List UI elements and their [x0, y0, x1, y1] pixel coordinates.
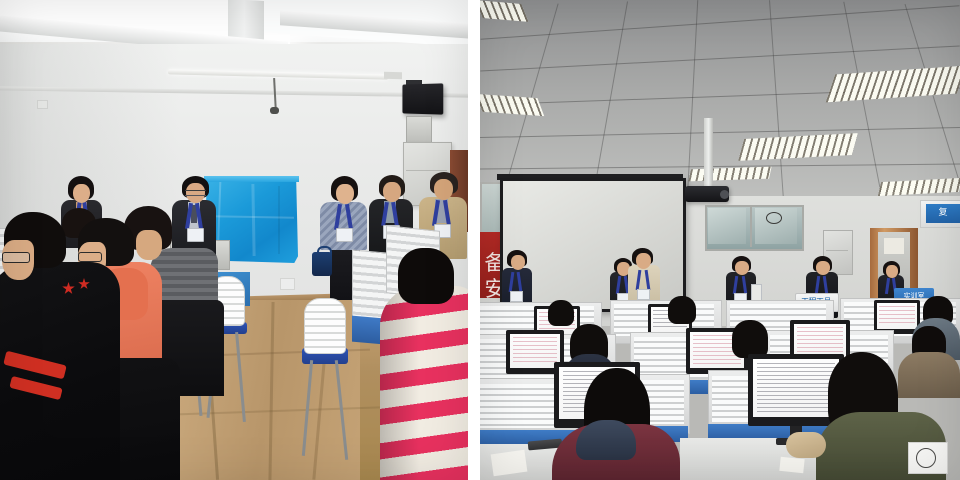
name-badge	[510, 291, 523, 302]
paper-sheet	[491, 450, 528, 477]
inspector-6-face	[886, 265, 898, 278]
student-hood	[576, 420, 636, 460]
electrical-panel-seam	[406, 170, 447, 171]
hanging-sign-label: 复	[928, 206, 958, 221]
glasses-icon	[185, 190, 206, 196]
monitor-content	[757, 363, 835, 413]
inspector-3-face	[636, 253, 651, 269]
name-badge	[187, 228, 204, 242]
paper-sheet	[779, 457, 804, 473]
monitor	[874, 300, 920, 334]
window-pane-left	[708, 208, 746, 244]
fluorescent-tube-end-cap	[384, 72, 402, 79]
monitor-content	[513, 337, 557, 364]
photo-pair-composite: 备 安 复	[0, 0, 960, 480]
wall-speaker	[402, 83, 443, 114]
window-mullion	[750, 205, 752, 247]
meeting-room-photo	[0, 0, 468, 480]
blue-cloth-top-edge	[204, 176, 299, 182]
student-body	[898, 352, 960, 398]
name-badge	[637, 289, 650, 300]
standing-person-4-face	[383, 182, 401, 202]
inspector-4-face	[735, 261, 749, 275]
student-hair	[732, 320, 768, 358]
projector-lens	[720, 190, 729, 199]
standing-person-1-face	[73, 184, 90, 203]
student-hair	[548, 300, 574, 326]
wall-socket-2	[280, 278, 295, 290]
standing-person-3-face	[336, 184, 354, 204]
inspector-5-face	[816, 261, 830, 275]
monitor-content	[797, 327, 843, 356]
standing-person-3	[320, 202, 367, 250]
inspector-1-face	[511, 255, 525, 270]
window-cable	[766, 212, 782, 224]
wall-speaker-secondary	[406, 116, 432, 144]
nameplate-emblem-icon	[916, 448, 936, 468]
seated-person-striped-hair	[398, 248, 454, 304]
seated-student-3-face	[136, 230, 162, 260]
cloth-fold	[278, 186, 280, 254]
handbag	[312, 252, 332, 276]
wire-connector	[270, 107, 279, 114]
door-poster	[884, 238, 904, 254]
computer-lab-photo: 备 安 复	[480, 0, 960, 480]
glasses-icon	[78, 252, 102, 262]
glasses-icon	[2, 252, 30, 263]
monitor-content	[879, 306, 915, 326]
wall-cabinet-seam	[826, 250, 848, 251]
photo-gutter	[468, 0, 480, 480]
student-hair	[668, 296, 696, 324]
name-badge	[336, 228, 353, 242]
bag-on-desk	[786, 432, 826, 458]
standing-person-5-face	[434, 179, 453, 200]
seated-person-striped-shading	[380, 286, 468, 480]
wall-socket	[37, 100, 48, 109]
chair-back	[304, 298, 346, 354]
projector-mount-pole	[704, 118, 713, 186]
